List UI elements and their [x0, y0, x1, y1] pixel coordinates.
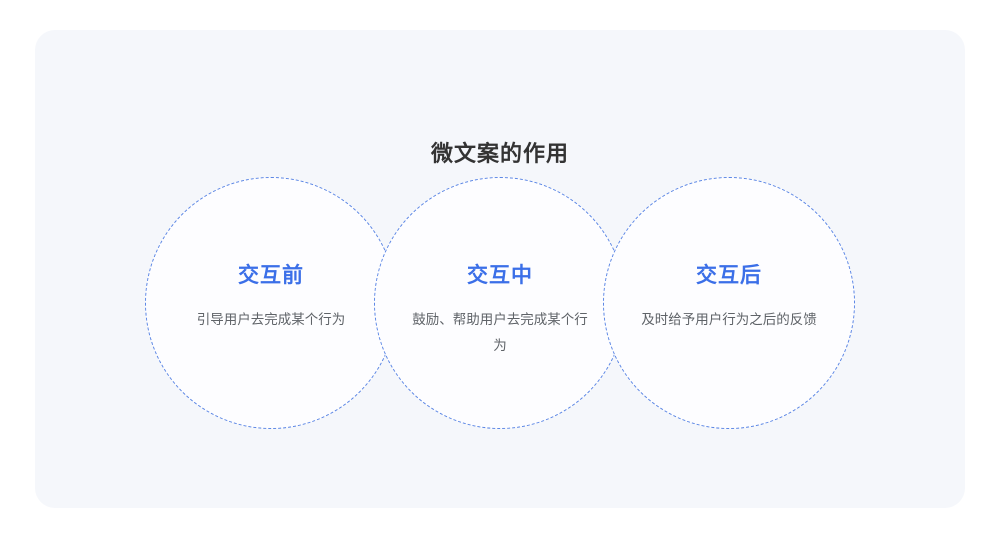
venn-diagram: 交互前 引导用户去完成某个行为 交互中 鼓励、帮助用户去完成某个行为 交互后 及… — [35, 30, 965, 508]
content-card: 微文案的作用 交互前 引导用户去完成某个行为 交互中 鼓励、帮助用户去完成某个行… — [35, 30, 965, 508]
circle-after-interaction: 交互后 及时给予用户行为之后的反馈 — [603, 177, 855, 429]
slide-canvas: 微文案的作用 交互前 引导用户去完成某个行为 交互中 鼓励、帮助用户去完成某个行… — [0, 0, 1000, 536]
circle-during-interaction: 交互中 鼓励、帮助用户去完成某个行为 — [374, 177, 626, 429]
circle-heading-before-interaction: 交互前 — [238, 262, 304, 290]
circle-before-interaction: 交互前 引导用户去完成某个行为 — [145, 177, 397, 429]
circle-description-before-interaction: 引导用户去完成某个行为 — [183, 307, 359, 333]
circle-description-during-interaction: 鼓励、帮助用户去完成某个行为 — [412, 307, 588, 359]
circle-heading-after-interaction: 交互后 — [696, 262, 762, 290]
circle-description-after-interaction: 及时给予用户行为之后的反馈 — [641, 307, 817, 333]
circle-heading-during-interaction: 交互中 — [467, 262, 533, 290]
